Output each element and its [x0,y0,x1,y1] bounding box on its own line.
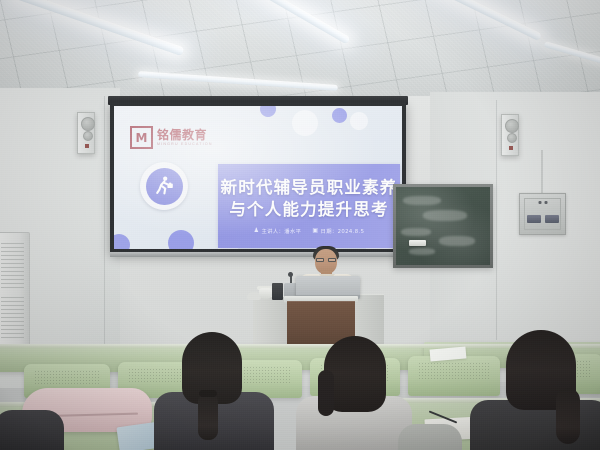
speaker-midrange [507,133,517,143]
student-far-left-torso [0,410,64,450]
projection-screen: M 铭儒教育 MINGRU EDUCATION [110,102,406,254]
green-chalkboard [393,184,493,268]
wall-speaker-left [77,112,95,154]
chalkboard-eraser [409,240,426,246]
screen-bottom-weight-bar [110,252,410,257]
panel-indicator [544,201,547,204]
slide-logo: M 铭儒教育 MINGRU EDUCATION [130,126,213,149]
speaker-led [509,146,513,150]
slide-meta: ♟ 主讲人：潘水平 ▣ 日期：2024.8.5 [254,227,365,235]
slide-title-line-2: 与个人能力提升思考 [229,199,388,221]
wall-seam-right [496,100,497,340]
ponytail-tie [199,390,217,397]
panel-indicator [538,201,541,204]
chalk-smudge [423,210,467,221]
slide-dot-4 [350,112,368,130]
wall-seam-left [104,96,105,346]
slide-title-line-1: 新时代辅导员职业素养 [221,177,398,199]
panel-indicator-lights [538,201,547,204]
wall-electrical-panel [519,193,566,235]
ac-vent-grille [1,243,24,289]
student-right-foreground-ponytail [556,388,580,444]
slide-meta-date: ▣ 日期：2024.8.5 [312,227,364,235]
slide-meta-date-text: 日期：2024.8.5 [321,227,365,235]
slide-title-band: 新时代辅导员职业素养 与个人能力提升思考 ♟ 主讲人：潘水平 ▣ 日期：2024… [218,164,400,248]
student-center-hair-left-strand [318,370,334,416]
desk-microphone [288,272,293,277]
seat-mesh-1 [34,370,100,386]
desk-cup [259,288,272,299]
speaker-woofer [81,117,95,131]
panel-switch-right[interactable] [545,215,559,223]
student-left-foreground-ponytail [198,392,218,440]
slide-meta-presenter-text: 主讲人：潘水平 [261,227,301,235]
slide-meta-presenter: ♟ 主讲人：潘水平 [254,227,302,235]
slide-dot-1 [260,106,276,117]
slide-dot-2 [292,110,318,136]
logo-name-cn: 铭儒教育 [157,129,213,141]
projected-slide: M 铭儒教育 MINGRU EDUCATION [114,106,402,249]
speaker-woofer [505,119,519,133]
running-person-with-briefcase-icon [146,168,183,205]
slide-dot-5 [114,234,130,249]
speaker-led [85,144,89,148]
student-mid-right-torso [398,424,462,450]
chalkboard-surface [396,187,490,265]
speaker-midrange [83,131,93,141]
monitor-icon: ▣ [312,228,318,234]
chalk-smudge [439,236,475,246]
slide-dot-6 [168,230,194,249]
chalk-smudge [403,196,441,205]
seat-mesh-5 [418,362,490,380]
panel-switch-left[interactable] [527,215,541,223]
logo-name-en: MINGRU EDUCATION [157,143,213,147]
eyeglasses-icon [316,258,336,262]
ceiling-conduit [541,150,543,194]
slide-dot-3 [332,108,347,123]
chalk-smudge [409,248,435,255]
wall-air-conditioner [0,232,30,352]
slide-badge [140,162,188,210]
chalk-smudge [401,228,431,236]
logo-mark-icon: M [130,126,153,149]
podium-black-device [272,283,283,300]
wall-speaker-right [501,114,519,156]
person-icon: ♟ [254,228,259,234]
classroom-photo: M 铭儒教育 MINGRU EDUCATION [0,0,600,450]
ac-vent-grille [1,297,24,339]
